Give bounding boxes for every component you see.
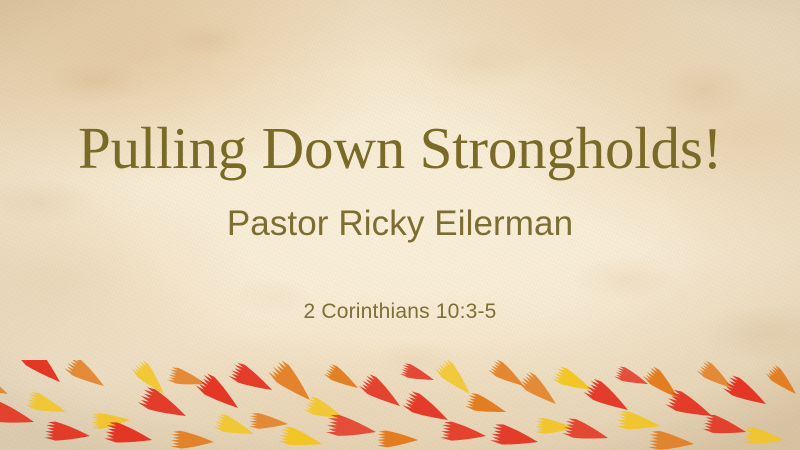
leaf-shape <box>765 363 800 399</box>
leaf-shape <box>440 420 487 445</box>
leaf <box>0 368 12 402</box>
page-title: Pulling Down Strongholds! <box>0 119 800 178</box>
leaf-shape <box>228 361 277 399</box>
leaf <box>765 363 800 399</box>
leaf <box>377 430 418 448</box>
leaf <box>44 420 91 445</box>
leaf <box>434 360 477 400</box>
leaf <box>25 390 69 420</box>
leaf-shape <box>702 413 748 441</box>
leaf <box>517 370 561 411</box>
leaf-shape <box>616 410 661 435</box>
leaf <box>440 420 487 445</box>
leaf <box>648 430 695 450</box>
leaf <box>249 412 289 432</box>
leaf-shape <box>267 360 317 408</box>
leaf <box>63 360 109 393</box>
leaf <box>323 362 362 394</box>
leaf <box>616 410 661 435</box>
leaf <box>228 361 277 399</box>
leaf-shape <box>742 426 785 448</box>
leaf-shape <box>665 388 716 425</box>
leaf-shape <box>25 390 69 420</box>
leaf-shape <box>0 368 12 402</box>
leaf-shape <box>434 360 477 400</box>
scripture-reference: 2 Corinthians 10:3-5 <box>0 301 800 322</box>
leaf <box>665 388 716 425</box>
leaf-shape <box>465 391 509 420</box>
leaf-shape <box>170 430 214 450</box>
leaf-shape <box>490 422 540 450</box>
leaf-shape <box>44 420 91 445</box>
leaf <box>535 417 575 435</box>
leaf-shape <box>323 362 362 394</box>
leaf <box>488 360 529 392</box>
leaf-shape <box>167 366 209 392</box>
leaf <box>167 366 209 392</box>
leaf <box>399 362 436 387</box>
autumn-leaf-border <box>0 360 800 450</box>
leaf <box>465 391 509 420</box>
leaf <box>137 385 191 425</box>
leaf-shape <box>249 412 289 432</box>
leaf-shape <box>517 370 561 411</box>
leaf <box>325 413 377 442</box>
leaf-shape <box>722 373 771 412</box>
leaf-shape <box>648 430 695 450</box>
leaf-shape <box>552 365 596 398</box>
presentation-slide: Pulling Down Strongholds! Pastor Ricky E… <box>0 0 800 450</box>
leaf <box>213 412 257 442</box>
leaf <box>722 373 771 412</box>
leaf <box>702 413 748 441</box>
leaf-shape <box>325 413 377 442</box>
leaf-shape <box>358 372 406 414</box>
leaf-border-canvas <box>0 360 800 450</box>
leaf <box>490 422 540 450</box>
leaf-shape <box>63 360 109 393</box>
leaf-shape <box>137 385 191 425</box>
leaf-shape <box>278 425 324 450</box>
leaf-shape <box>213 412 257 442</box>
leaf <box>562 417 611 448</box>
slide-subtitle: Pastor Ricky Eilerman <box>0 206 800 241</box>
leaf-shape <box>535 417 575 435</box>
leaf <box>278 425 324 450</box>
leaf-shape <box>399 362 436 387</box>
leaf <box>170 430 214 450</box>
leaf-shape <box>562 417 611 448</box>
leaf-shape <box>16 360 67 390</box>
leaf-shape <box>488 360 529 392</box>
leaf <box>402 389 453 429</box>
leaf-shape <box>402 389 453 429</box>
leaf <box>552 365 596 398</box>
leaf <box>742 426 785 448</box>
leaf <box>16 360 67 390</box>
leaf-shape <box>377 430 418 448</box>
leaf <box>358 372 406 414</box>
leaf <box>267 360 317 408</box>
